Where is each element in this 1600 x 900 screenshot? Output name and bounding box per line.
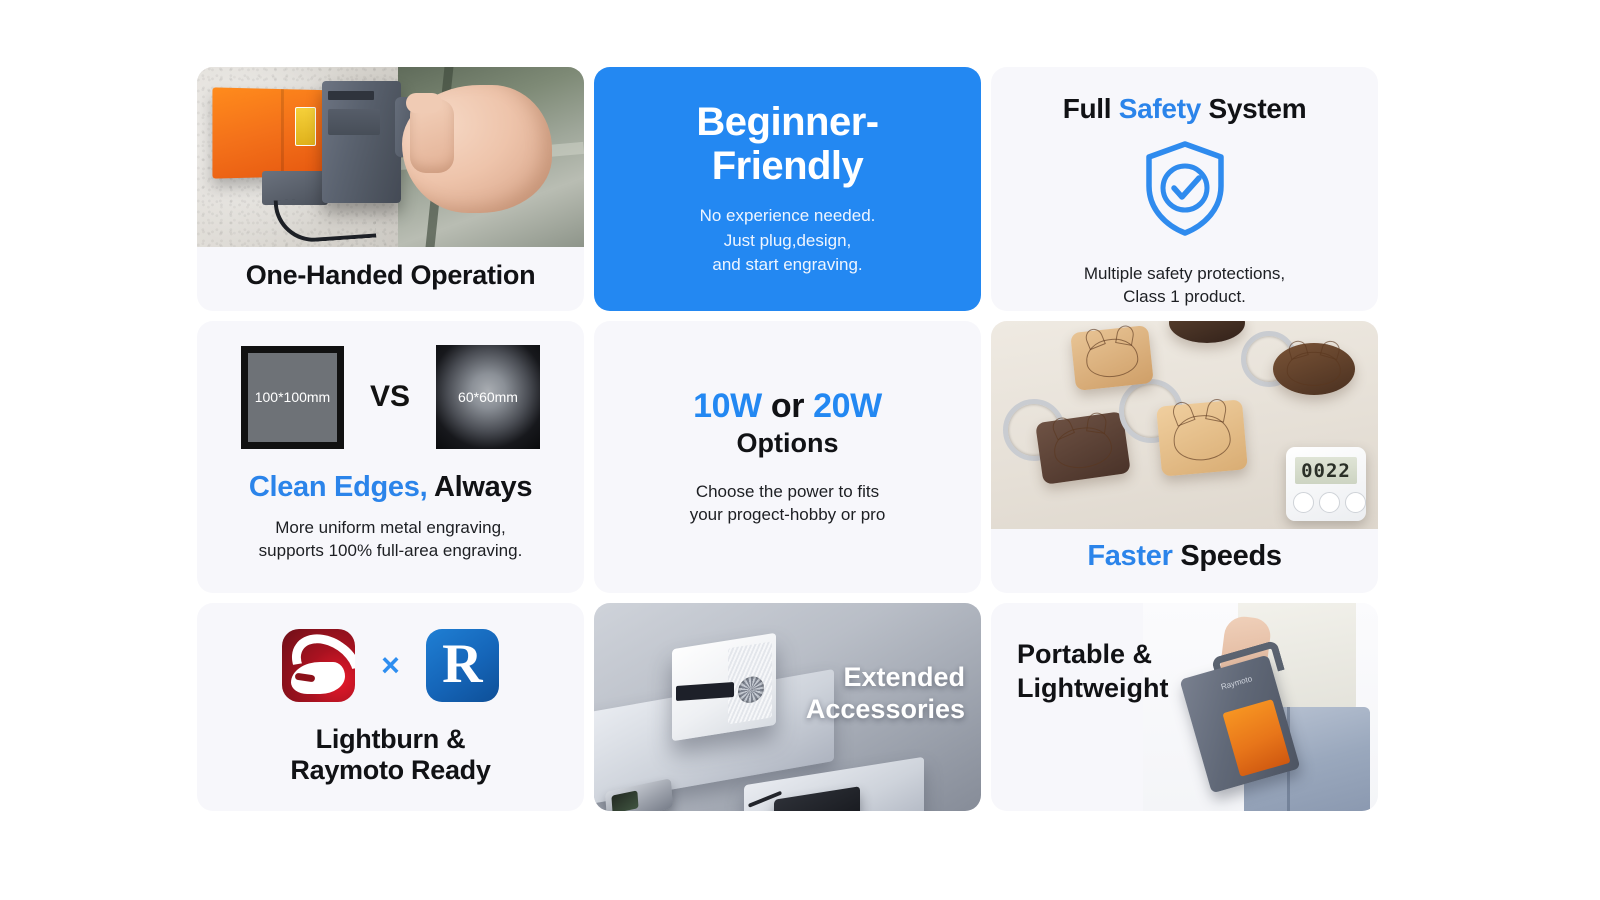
card-title: Extended Accessories: [806, 661, 965, 726]
title-suffix: Speeds: [1180, 540, 1281, 572]
timer-button-start-stop[interactable]: [1345, 492, 1366, 513]
description-line-1: More uniform metal engraving,: [259, 517, 523, 540]
title-line-2: Friendly: [696, 144, 878, 188]
card-faster-speeds: 0022 Faster Speeds: [991, 321, 1378, 593]
description-line-1: No experience needed.: [700, 204, 876, 229]
title-line-2: Accessories: [806, 693, 965, 725]
card-description: Multiple safety protections, Class 1 pro…: [1084, 263, 1285, 309]
title-line-1: Portable &: [1017, 637, 1168, 671]
timer-button-sec[interactable]: [1319, 492, 1340, 513]
description-line-2: Just plug,design,: [700, 229, 876, 254]
comparison-vs-label: VS: [370, 380, 410, 414]
card-clean-edges: 100*100mm VS 60*60mm Clean Edges, Always…: [197, 321, 584, 593]
engraver-wall-photo: [197, 67, 584, 247]
comparison-sample-large: 100*100mm: [241, 346, 344, 449]
engraved-dog-icon: [1051, 424, 1114, 472]
power-option-10w: 10W: [693, 387, 762, 425]
software-logos: × R: [282, 629, 499, 702]
comparison-sample-small: 60*60mm: [436, 345, 540, 449]
card-title: One-Handed Operation: [197, 260, 584, 290]
keychain-dark-rect: [1035, 411, 1131, 485]
title-line-1: Extended: [806, 661, 965, 693]
extractor-slot: [676, 682, 734, 701]
keychain-light-rect: [1156, 399, 1248, 476]
card-one-handed-operation: One-Handed Operation: [197, 67, 584, 311]
keychain-top-rect: [1070, 325, 1154, 391]
title-line-1: Beginner-: [696, 100, 878, 144]
lightburn-dragon-logo: [282, 629, 355, 702]
engraved-dog-icon: [1172, 413, 1233, 463]
card-power-options: 10W or 20W Options Choose the power to f…: [594, 321, 981, 593]
title-suffix: System: [1208, 93, 1306, 124]
shield-check-icon: [1139, 138, 1231, 243]
title-line-1: Lightburn &: [290, 724, 490, 754]
portable-photo: Raymoto: [1143, 603, 1378, 811]
timer-lcd-display: 0022: [1295, 457, 1357, 484]
card-description: No experience needed. Just plug,design, …: [700, 204, 876, 278]
description-line-2: your progect-hobby or pro: [690, 504, 886, 527]
comparison-left-label: 100*100mm: [255, 389, 331, 405]
card-description: More uniform metal engraving, supports 1…: [259, 517, 523, 563]
raymoto-r-logo: R: [426, 629, 499, 702]
title-line-2: Lightweight: [1017, 671, 1168, 705]
card-extended-accessories: Extended Accessories: [594, 603, 981, 811]
engraver-body: [322, 81, 401, 203]
title-accent: Faster: [1087, 540, 1172, 572]
timer-buttons: [1293, 492, 1366, 513]
description-line-3: and start engraving.: [700, 253, 876, 278]
card-full-safety-system: Full Safety System Multiple safety prote…: [991, 67, 1378, 311]
digital-timer: 0022: [1286, 447, 1366, 521]
card-title: Portable & Lightweight: [1017, 637, 1168, 705]
card-title: Faster Speeds: [991, 540, 1378, 572]
engraved-dog-icon: [1287, 352, 1341, 386]
title-accent: Clean Edges,: [249, 471, 428, 503]
warning-label: [295, 107, 316, 146]
keychain-scene: 0022: [991, 321, 1378, 529]
one-handed-operation-photo: [197, 67, 584, 247]
engraved-dog-icon: [1084, 336, 1140, 379]
raymoto-letter: R: [442, 636, 482, 692]
card-description: Choose the power to fits your progect-ho…: [690, 481, 886, 527]
card-software-ready: × R Lightburn & Raymoto Ready: [197, 603, 584, 811]
keychain-round-top: [1169, 321, 1245, 343]
power-option-join: or: [771, 387, 804, 425]
description-line-1: Choose the power to fits: [690, 481, 886, 504]
timer-button-min[interactable]: [1293, 492, 1314, 513]
feature-card-grid: One-Handed Operation Beginner- Friendly …: [197, 67, 1377, 811]
description-line-2: supports 100% full-area engraving.: [259, 540, 523, 563]
timer-value: 0022: [1301, 460, 1351, 482]
card-title: Beginner- Friendly: [696, 100, 878, 188]
card-portable-lightweight: Raymoto Portable & Lightweight: [991, 603, 1378, 811]
multiply-icon: ×: [381, 647, 400, 684]
fume-extractor: [672, 633, 776, 741]
hand: [402, 85, 552, 213]
engraving-comparison: 100*100mm VS 60*60mm: [241, 345, 540, 449]
card-title: Lightburn & Raymoto Ready: [290, 724, 490, 784]
card-title: Full Safety System: [1063, 93, 1307, 124]
description-line-2: Class 1 product.: [1084, 286, 1285, 309]
card-beginner-friendly: Beginner- Friendly No experience needed.…: [594, 67, 981, 311]
keychain-round-dark: [1273, 343, 1355, 395]
title-prefix: Full: [1063, 93, 1112, 124]
orange-laser-shield: [212, 87, 339, 178]
title-line-2: Raymoto Ready: [290, 755, 490, 785]
title-accent: Safety: [1119, 93, 1201, 124]
card-title: Clean Edges, Always: [249, 471, 532, 503]
power-option-20w: 20W: [813, 387, 882, 425]
card-title: 10W or 20W: [693, 387, 882, 426]
description-line-1: Multiple safety protections,: [1084, 263, 1285, 286]
keychains-photo: 0022: [991, 321, 1378, 529]
comparison-right-label: 60*60mm: [458, 389, 518, 405]
title-line-2: Options: [737, 428, 839, 459]
title-suffix: Always: [434, 471, 532, 503]
